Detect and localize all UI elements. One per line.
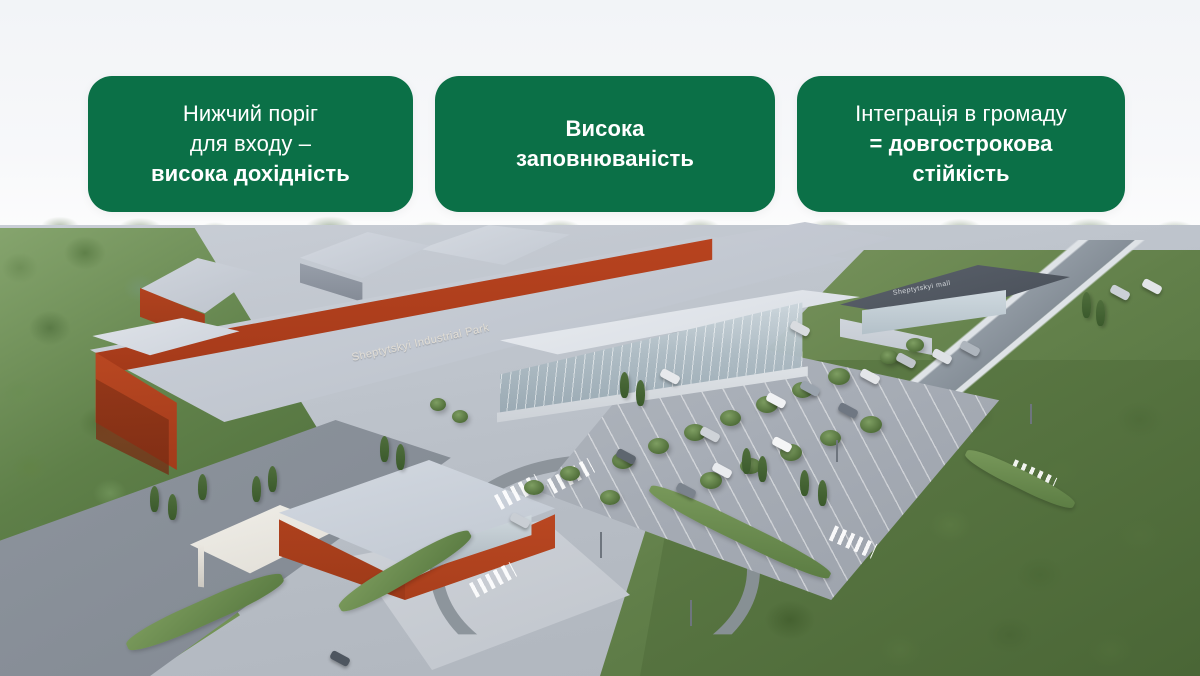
pavilion-canopy-column: [198, 545, 204, 588]
cypress-tree: [1082, 292, 1091, 318]
cypress-tree: [252, 476, 261, 502]
cypress-tree: [168, 494, 177, 520]
tree: [720, 410, 741, 426]
cypress-tree: [800, 470, 809, 496]
cypress-tree: [742, 448, 751, 474]
card1-line1: Нижчий поріг: [183, 99, 318, 129]
lamp-post: [690, 600, 692, 626]
card-community-integration[interactable]: Інтеграція в громаду = довгострокова сті…: [797, 76, 1125, 212]
slide-root: Sheptytskyi Industrial Park Sheptytskyi …: [0, 0, 1200, 676]
lamp-post: [1030, 404, 1032, 424]
card3-line2: = довгострокова: [870, 129, 1053, 159]
card3-line3: стійкість: [912, 159, 1009, 189]
card2-line1: Висока: [566, 114, 645, 144]
tree: [700, 472, 722, 489]
cypress-tree: [268, 466, 277, 492]
tree: [820, 430, 841, 446]
tree: [906, 338, 924, 352]
card-high-occupancy[interactable]: Висока заповнюваність: [435, 76, 775, 212]
cypress-tree: [818, 480, 827, 506]
cypress-tree: [396, 444, 405, 470]
tree: [600, 490, 620, 505]
cypress-tree: [758, 456, 767, 482]
tree: [560, 466, 580, 481]
cypress-tree: [380, 436, 389, 462]
card3-line1: Інтеграція в громаду: [855, 99, 1067, 129]
tree: [430, 398, 446, 411]
lamp-post: [600, 532, 602, 558]
lamp-post: [836, 440, 838, 462]
cypress-tree: [636, 380, 645, 406]
card-lower-entry-threshold[interactable]: Нижчий поріг для входу – висока дохідніс…: [88, 76, 413, 212]
card1-line3: висока дохідність: [151, 159, 350, 189]
cypress-tree: [620, 372, 629, 398]
tree: [648, 438, 669, 454]
cypress-tree: [1096, 300, 1105, 326]
tree: [452, 410, 468, 423]
card1-line2: для входу –: [190, 129, 311, 159]
benefit-cards-row: Нижчий поріг для входу – висока дохідніс…: [0, 0, 1200, 260]
tree: [524, 480, 544, 495]
tree: [860, 416, 882, 433]
card2-line2: заповнюваність: [516, 144, 694, 174]
cypress-tree: [150, 486, 159, 512]
cypress-tree: [198, 474, 207, 500]
tree: [828, 368, 850, 385]
